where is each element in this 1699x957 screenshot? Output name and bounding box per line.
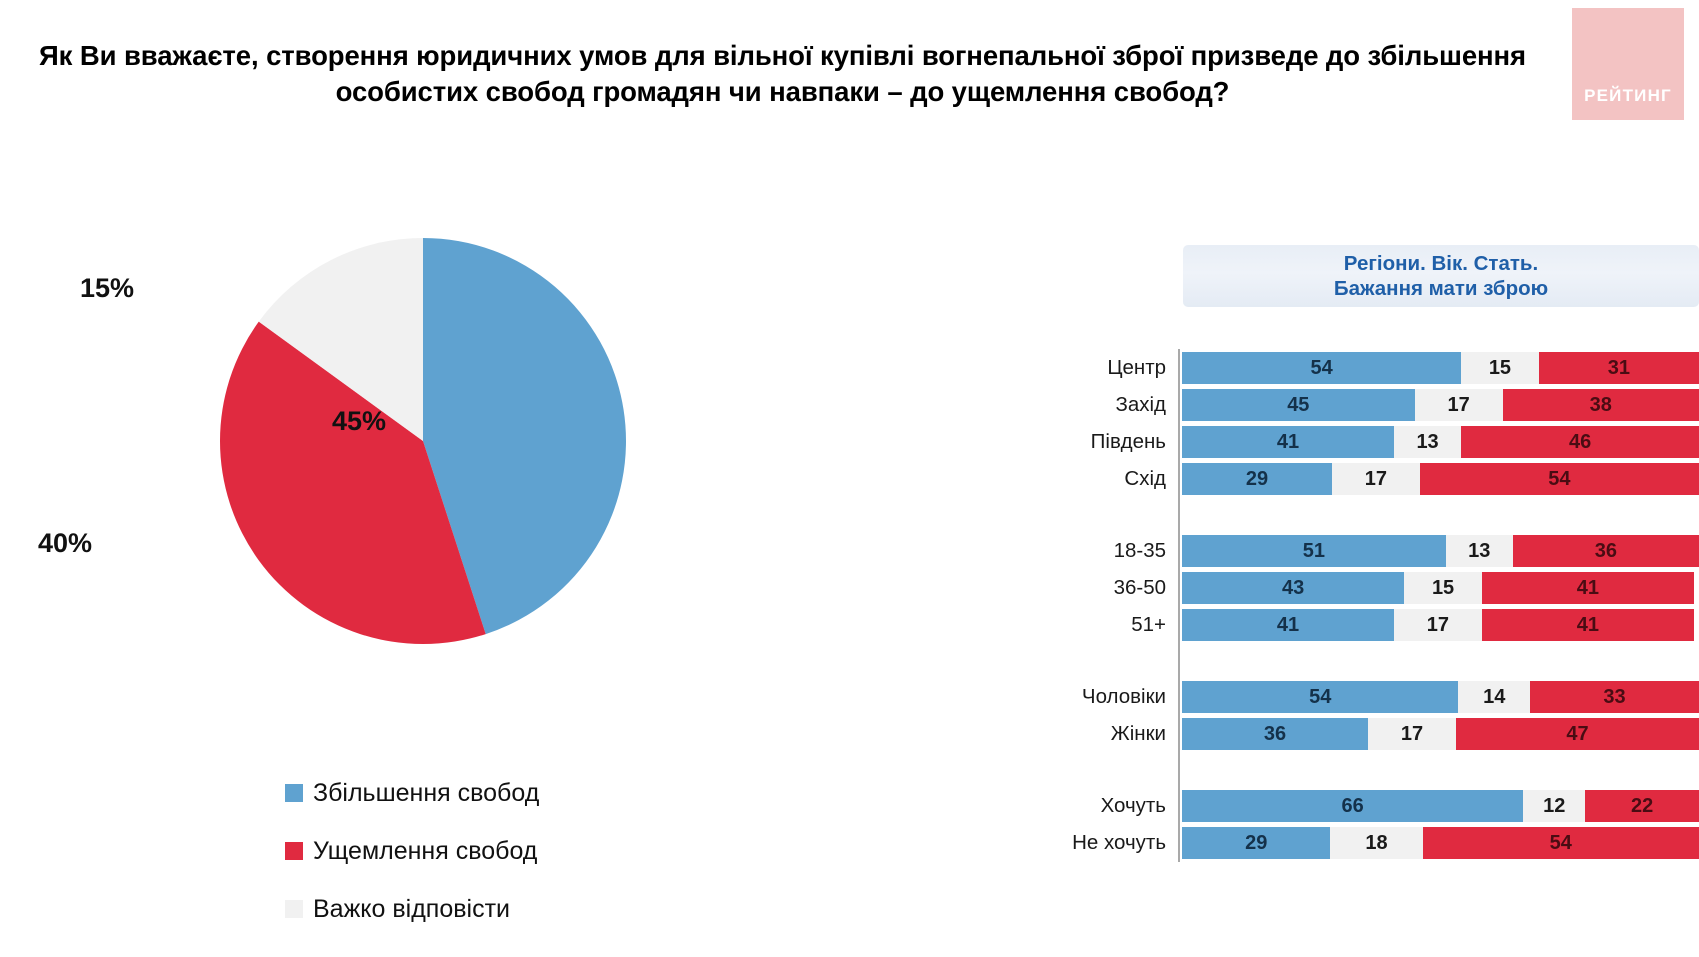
bar-row-label: Хочуть bbox=[1000, 794, 1176, 818]
bar-track: 541531 bbox=[1182, 352, 1699, 384]
bar-segment-grey: 17 bbox=[1368, 718, 1456, 750]
bar-axis-tick bbox=[1176, 755, 1182, 785]
bar-segment-grey: 14 bbox=[1458, 681, 1530, 713]
bar-segment-red: 31 bbox=[1539, 352, 1699, 384]
legend-item-label: Важко відповісти bbox=[313, 897, 510, 922]
bar-segment-red: 22 bbox=[1585, 790, 1699, 822]
bar-segment-grey: 17 bbox=[1394, 609, 1482, 641]
bar-segment-red: 38 bbox=[1503, 389, 1699, 421]
bar-row-label: Чоловіки bbox=[1000, 685, 1176, 709]
bar-row-label: Захід bbox=[1000, 393, 1176, 417]
bar-segment-red: 47 bbox=[1456, 718, 1699, 750]
bar-row-label: Не хочуть bbox=[1000, 831, 1176, 855]
pie-chart-svg bbox=[218, 236, 628, 646]
bar-track: 291854 bbox=[1182, 827, 1699, 859]
bar-row: Схід291754 bbox=[1000, 463, 1699, 495]
bar-segment-grey: 18 bbox=[1330, 827, 1422, 859]
bar-track: 511336 bbox=[1182, 535, 1699, 567]
bar-segment-blue: 36 bbox=[1182, 718, 1368, 750]
bar-axis-tick bbox=[1176, 500, 1182, 530]
bar-row: 36-50431541 bbox=[1000, 572, 1699, 604]
bar-row-label: 51+ bbox=[1000, 613, 1176, 637]
bar-segment-blue: 43 bbox=[1182, 572, 1404, 604]
bar-row: Південь411346 bbox=[1000, 426, 1699, 458]
slide-canvas: Як Ви вважаєте, створення юридичних умов… bbox=[0, 0, 1699, 957]
legend-item-1[interactable]: Ущемлення свобод bbox=[285, 838, 539, 864]
legend-swatch-icon bbox=[285, 784, 303, 802]
bar-segment-blue: 51 bbox=[1182, 535, 1446, 567]
bar-track: 411346 bbox=[1182, 426, 1699, 458]
bar-segment-grey: 15 bbox=[1461, 352, 1539, 384]
bar-segment-blue: 45 bbox=[1182, 389, 1415, 421]
bar-segment-blue: 54 bbox=[1182, 681, 1458, 713]
bar-segment-grey: 17 bbox=[1332, 463, 1420, 495]
legend-item-0[interactable]: Збільшення свобод bbox=[285, 780, 539, 806]
bar-segment-blue: 41 bbox=[1182, 426, 1394, 458]
bar-group-spacer bbox=[1000, 500, 1699, 530]
bar-segment-blue: 41 bbox=[1182, 609, 1394, 641]
bar-segment-red: 41 bbox=[1482, 609, 1694, 641]
legend-item-2[interactable]: Важко відповісти bbox=[285, 896, 539, 922]
page-title: Як Ви вважаєте, створення юридичних умов… bbox=[10, 38, 1555, 111]
breakdown-panel-title-line1: Регіони. Вік. Стать. bbox=[1344, 251, 1538, 276]
bar-group-spacer bbox=[1000, 646, 1699, 676]
bar-segment-blue: 54 bbox=[1182, 352, 1461, 384]
bar-axis-tick bbox=[1176, 646, 1182, 676]
bar-row: Центр541531 bbox=[1000, 352, 1699, 384]
brand-logo-text: РЕЙТИНГ bbox=[1584, 86, 1672, 106]
bar-segment-blue: 29 bbox=[1182, 463, 1332, 495]
bar-row: Захід451738 bbox=[1000, 389, 1699, 421]
bar-row: Хочуть661222 bbox=[1000, 790, 1699, 822]
legend-swatch-icon bbox=[285, 842, 303, 860]
bar-track: 661222 bbox=[1182, 790, 1699, 822]
legend-item-label: Збільшення свобод bbox=[313, 781, 539, 806]
bar-row-label: Жінки bbox=[1000, 722, 1176, 746]
bar-track: 451738 bbox=[1182, 389, 1699, 421]
breakdown-panel-title-line2: Бажання мати зброю bbox=[1334, 276, 1548, 301]
bar-segment-grey: 12 bbox=[1523, 790, 1585, 822]
bar-row-label: Центр bbox=[1000, 356, 1176, 380]
pie-chart bbox=[218, 236, 628, 646]
bar-segment-blue: 29 bbox=[1182, 827, 1330, 859]
bar-track: 361747 bbox=[1182, 718, 1699, 750]
bar-segment-red: 46 bbox=[1461, 426, 1699, 458]
bar-track: 541433 bbox=[1182, 681, 1699, 713]
bar-segment-grey: 13 bbox=[1394, 426, 1461, 458]
bar-segment-blue: 66 bbox=[1182, 790, 1523, 822]
bar-segment-red: 54 bbox=[1423, 827, 1699, 859]
bar-row: 51+411741 bbox=[1000, 609, 1699, 641]
brand-logo: РЕЙТИНГ bbox=[1572, 8, 1684, 120]
bar-segment-grey: 13 bbox=[1446, 535, 1513, 567]
bar-row: Жінки361747 bbox=[1000, 718, 1699, 750]
bar-track: 411741 bbox=[1182, 609, 1699, 641]
bar-row-label: Схід bbox=[1000, 467, 1176, 491]
bar-segment-red: 41 bbox=[1482, 572, 1694, 604]
bar-row: 18-35511336 bbox=[1000, 535, 1699, 567]
bar-segment-grey: 15 bbox=[1404, 572, 1482, 604]
bar-row: Чоловіки541433 bbox=[1000, 681, 1699, 713]
legend-swatch-icon bbox=[285, 900, 303, 918]
pie-slice-label-1: 40% bbox=[38, 528, 92, 559]
legend-item-label: Ущемлення свобод bbox=[313, 839, 537, 864]
bar-row-label: 18-35 bbox=[1000, 539, 1176, 563]
bar-segment-grey: 17 bbox=[1415, 389, 1503, 421]
bar-row: Не хочуть291854 bbox=[1000, 827, 1699, 859]
bar-segment-red: 54 bbox=[1420, 463, 1699, 495]
bar-group-spacer bbox=[1000, 755, 1699, 785]
breakdown-panel-header: Регіони. Вік. Стать. Бажання мати зброю bbox=[1183, 245, 1699, 307]
bar-row-label: 36-50 bbox=[1000, 576, 1176, 600]
pie-legend: Збільшення свободУщемлення свободВажко в… bbox=[285, 780, 539, 954]
pie-slice-label-2: 15% bbox=[80, 273, 134, 304]
bar-track: 431541 bbox=[1182, 572, 1699, 604]
bar-segment-red: 33 bbox=[1530, 681, 1699, 713]
bar-segment-red: 36 bbox=[1513, 535, 1699, 567]
breakdown-bar-chart: Центр541531Захід451738Південь411346Схід2… bbox=[1000, 352, 1699, 864]
pie-slice-label-0: 45% bbox=[332, 406, 386, 437]
bar-row-label: Південь bbox=[1000, 430, 1176, 454]
bar-track: 291754 bbox=[1182, 463, 1699, 495]
